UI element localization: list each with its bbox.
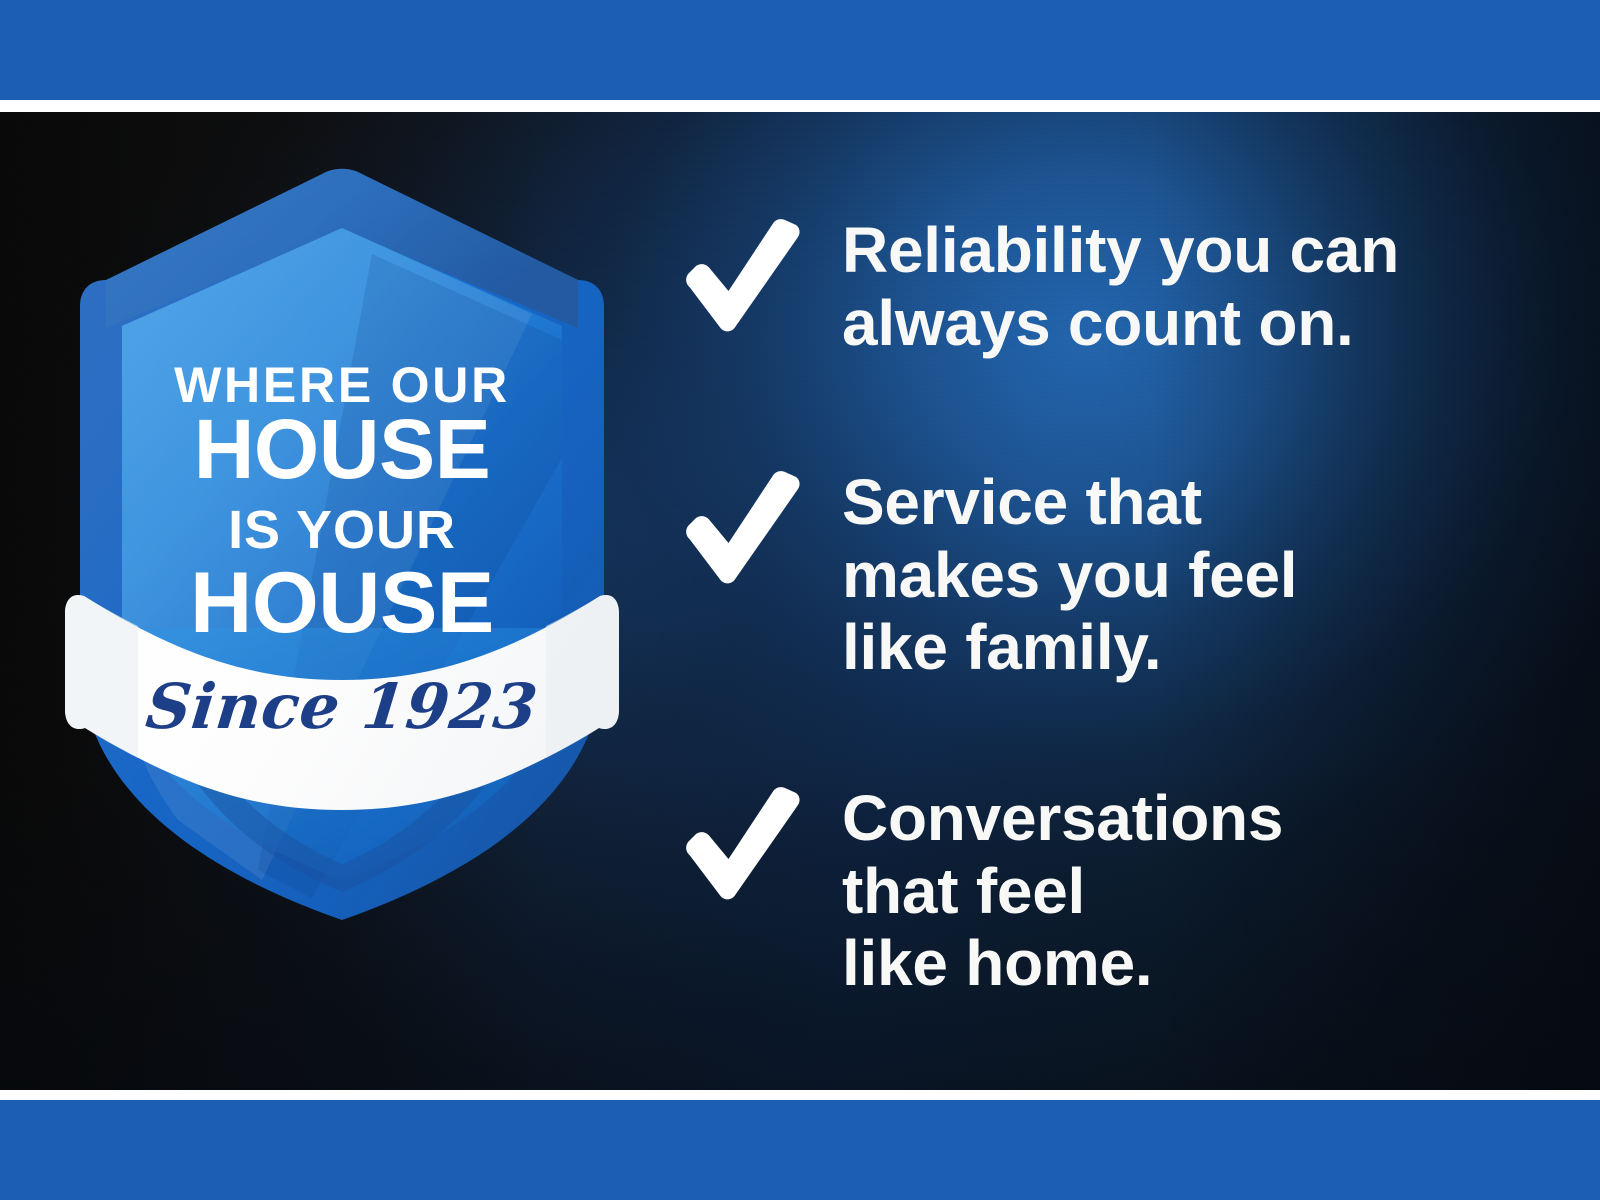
checkmark-icon (672, 212, 800, 338)
list-item-text: Conversations that feel like home. (842, 780, 1572, 1000)
list-item: Conversations that feel like home. (672, 780, 1572, 1000)
list-item-text: Service that makes you feel like family. (842, 464, 1572, 684)
checkmark-icon (672, 780, 800, 906)
list-item-text: Reliability you can always count on. (842, 212, 1572, 359)
list-item: Service that makes you feel like family. (672, 464, 1572, 684)
list-item: Reliability you can always count on. (672, 212, 1572, 359)
top-white-divider (0, 100, 1600, 112)
benefits-list: Reliability you can always count on. Ser… (672, 112, 1572, 1090)
top-brand-bar (0, 0, 1600, 100)
bottom-brand-bar (0, 1100, 1600, 1200)
shield-badge: Where Our House Is Your House Since 1923 (62, 158, 622, 928)
checkmark-icon (672, 464, 800, 590)
promo-graphic-canvas: Where Our House Is Your House Since 1923… (0, 0, 1600, 1200)
bottom-white-divider (0, 1090, 1600, 1100)
